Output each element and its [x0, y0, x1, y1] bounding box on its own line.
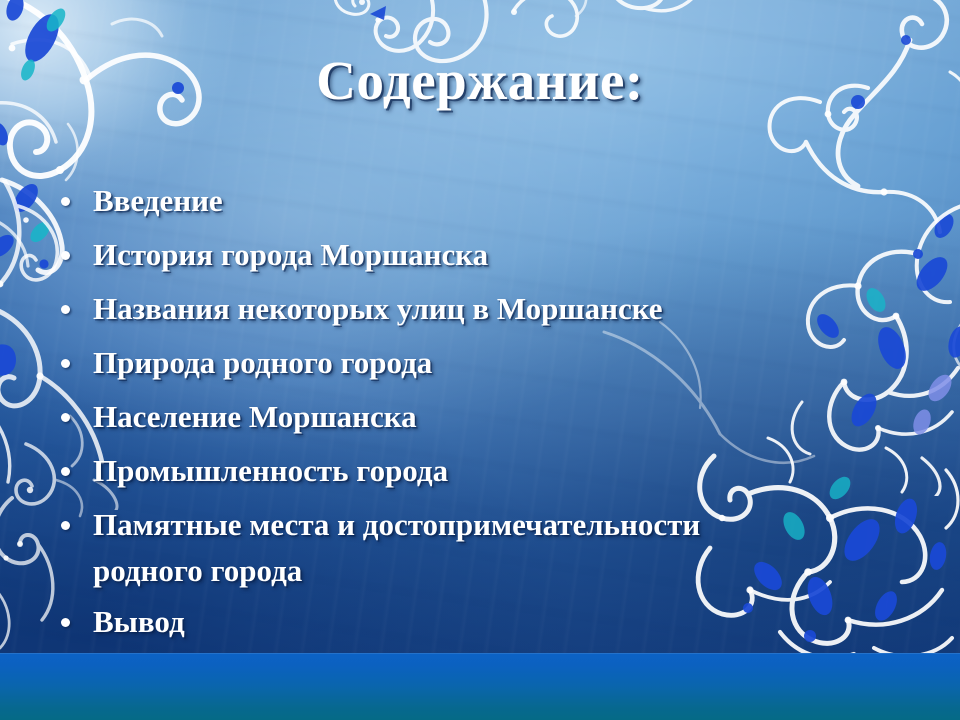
slide-title: Содержание:: [0, 52, 960, 110]
contents-item-8[interactable]: Вывод: [52, 599, 918, 644]
contents-item-5[interactable]: Население Моршанска: [52, 394, 918, 439]
contents-item-6[interactable]: Промышленность города: [52, 448, 918, 493]
contents-list: Введение История города Моршанска Назван…: [52, 178, 918, 653]
contents-item-1[interactable]: Введение: [52, 178, 918, 223]
contents-item-4[interactable]: Природа родного города: [52, 340, 918, 385]
slide-content: Содержание: Введение История города Морш…: [0, 0, 960, 720]
contents-item-2[interactable]: История города Моршанска: [52, 232, 918, 277]
contents-item-3[interactable]: Названия некоторых улиц в Моршанске: [52, 286, 918, 331]
footer-color-bar: [0, 653, 960, 720]
presentation-slide: Содержание: Введение История города Морш…: [0, 0, 960, 720]
contents-item-7[interactable]: Памятные места и достопримечательности р…: [52, 502, 918, 594]
